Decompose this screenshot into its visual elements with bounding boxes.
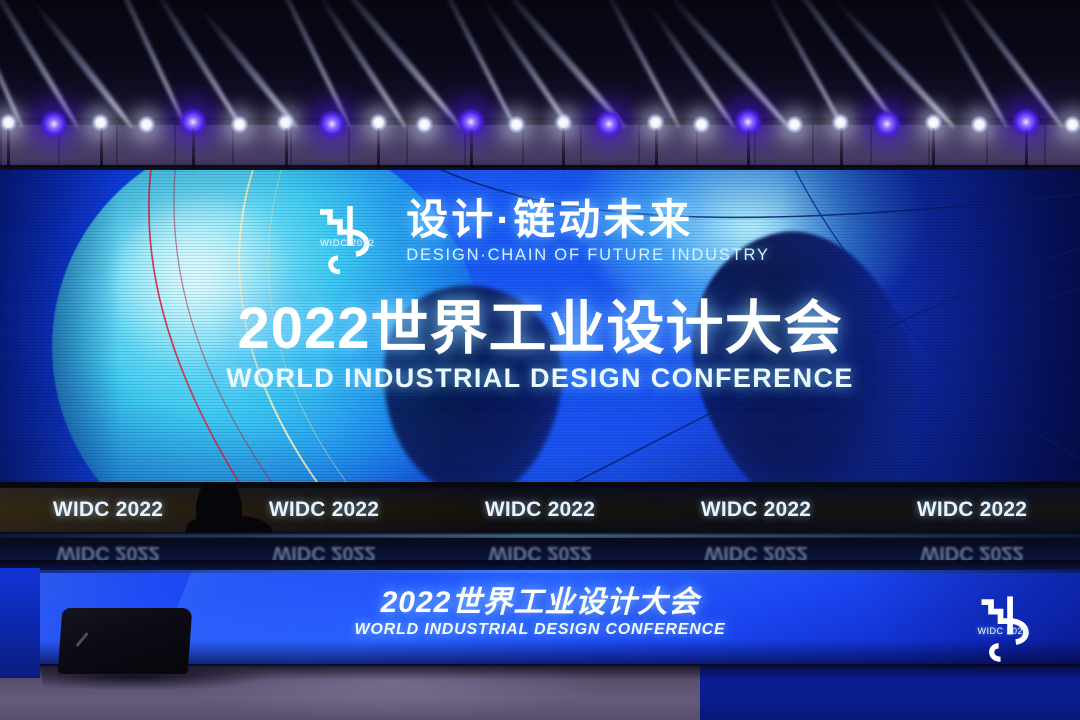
ticker-item: WIDC 2022	[648, 498, 864, 522]
light-beam	[264, 0, 353, 129]
stage-photo: WIDC 2022 设计·链动未来 DESIGN·CHAIN OF FUTURE…	[0, 0, 1080, 720]
screen-main-title: 2022世界工业设计大会 WORLD INDUSTRIAL DESIGN CON…	[0, 298, 1080, 393]
light-beam	[0, 0, 25, 129]
light-beam	[197, 5, 300, 130]
rigging-pole	[1025, 128, 1028, 172]
white-stage-light	[1063, 115, 1080, 134]
white-stage-light	[230, 115, 249, 134]
white-stage-light	[415, 115, 434, 134]
ticker-item: WIDC 2022	[0, 498, 216, 522]
light-beam	[646, 3, 738, 130]
rigging-pole	[100, 128, 103, 172]
rigging-pole	[932, 128, 935, 172]
light-beam	[761, 0, 845, 129]
light-beam	[944, 0, 1065, 130]
lower-panel-widc-caption: WIDC 2022	[960, 626, 1046, 636]
light-beam	[0, 0, 80, 130]
left-blue-sidewall	[0, 568, 40, 678]
rigging-pole	[285, 128, 288, 172]
widc-ticker-strip: WIDC 2022WIDC 2022WIDC 2022WIDC 2022WIDC…	[0, 482, 1080, 538]
ticker-item: WIDC 2022	[216, 498, 432, 522]
ticker-item: WIDC 2022	[432, 498, 648, 522]
ticker-item: WIDC 2022	[864, 498, 1080, 522]
title-en: WORLD INDUSTRIAL DESIGN CONFERENCE	[0, 363, 1080, 393]
screen-logo-lockup: WIDC 2022 设计·链动未来 DESIGN·CHAIN OF FUTURE…	[0, 196, 1080, 279]
widc-monogram-caption: WIDC 2022	[304, 238, 390, 249]
light-beam	[99, 0, 188, 129]
light-beam	[661, 0, 792, 130]
title-cn: 2022世界工业设计大会	[0, 298, 1080, 360]
rigging-pole	[840, 128, 843, 172]
rigging-pole	[7, 128, 10, 172]
ceiling-truss-area	[0, 0, 1080, 172]
light-beam	[326, 0, 464, 130]
white-stage-light	[507, 115, 526, 134]
widc-monogram-icon: WIDC 2022	[310, 196, 392, 274]
rigging-pole	[470, 128, 473, 172]
light-beam	[478, 0, 572, 130]
rigging-pole	[562, 128, 565, 172]
lower-panel-widc-monogram-icon: WIDC 2022	[972, 586, 1050, 662]
violet-stage-light	[317, 109, 347, 139]
rigging-pole	[192, 128, 195, 172]
white-stage-light	[137, 115, 156, 134]
stage-speaker	[58, 608, 193, 674]
truss-beam	[0, 118, 1080, 125]
violet-stage-light	[872, 109, 902, 139]
light-beam	[928, 0, 1010, 129]
tagline-en: DESIGN·CHAIN OF FUTURE INDUSTRY	[406, 246, 770, 265]
lower-panel-top-edge	[0, 570, 1080, 573]
tagline-cn: 设计·链动未来	[406, 198, 770, 242]
rigging-pole	[377, 128, 380, 172]
white-stage-light	[692, 115, 711, 134]
white-stage-light	[970, 115, 989, 134]
white-stage-light	[785, 115, 804, 134]
rigging-pole	[655, 128, 658, 172]
ticker-row: WIDC 2022WIDC 2022WIDC 2022WIDC 2022WIDC…	[0, 482, 1080, 538]
rigging-pole	[747, 128, 750, 172]
